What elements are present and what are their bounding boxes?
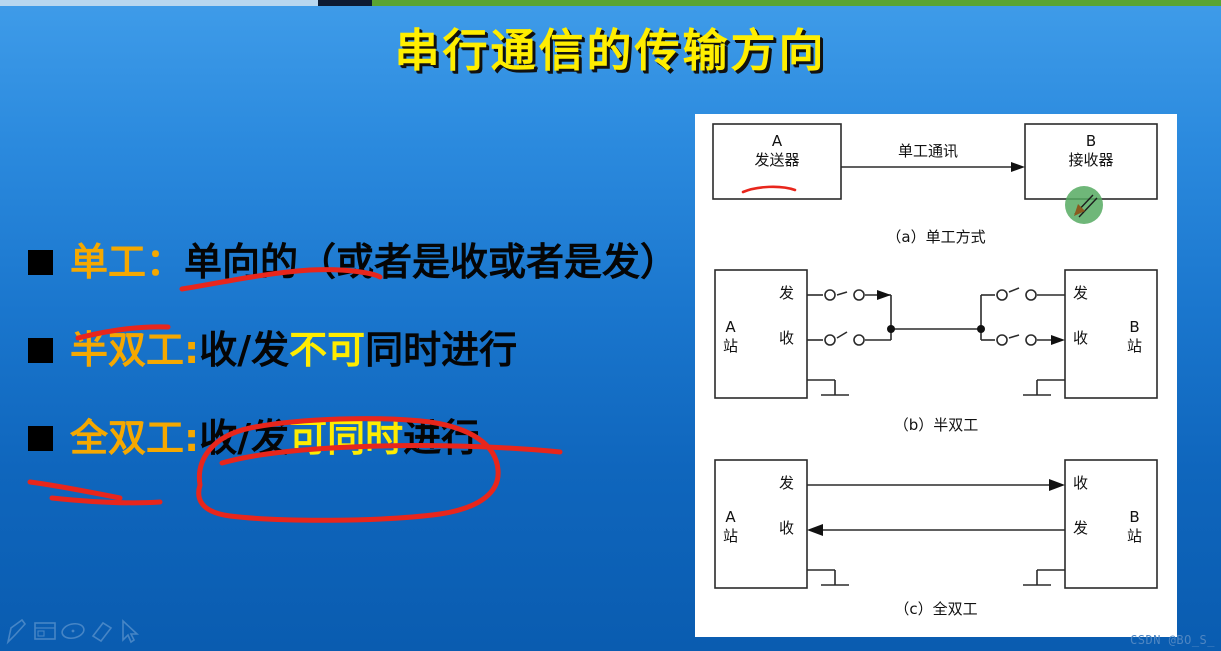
box-subtitle: 接收器 bbox=[1025, 151, 1157, 170]
half-duplex-left-tx-label: 发 bbox=[779, 284, 794, 303]
station-sub: 站 bbox=[723, 337, 738, 356]
simplex-left-box-label: A 发送器 bbox=[713, 132, 841, 170]
half-duplex-left-rx-label: 收 bbox=[779, 329, 794, 348]
full-duplex-right-station: B 站 bbox=[1127, 508, 1142, 546]
bullet-keyword: 全双工: bbox=[70, 416, 199, 460]
square-bullet-icon bbox=[28, 426, 53, 451]
bullet-body: 收/发 bbox=[199, 416, 289, 460]
full-duplex-caption: （c）全双工 bbox=[695, 598, 1177, 619]
eraser-icon[interactable] bbox=[88, 616, 114, 646]
bullet-keyword: 半双工: bbox=[70, 328, 199, 372]
half-duplex-right-station: B 站 bbox=[1127, 318, 1142, 356]
page-title: 串行通信的传输方向 bbox=[0, 14, 1221, 79]
station-name: A bbox=[723, 318, 738, 337]
full-duplex-graphic bbox=[695, 452, 1177, 612]
station-sub: 站 bbox=[1127, 527, 1142, 546]
bullet-text: 单工：单向的（或者是收或者是发） bbox=[70, 236, 678, 288]
list-item: 单工：单向的（或者是收或者是发） bbox=[0, 236, 690, 324]
station-name: B bbox=[1127, 508, 1142, 527]
station-sub: 站 bbox=[723, 527, 738, 546]
diagram-full-duplex: A 站 发 收 B 站 收 发 （c）全双工 bbox=[695, 452, 1177, 632]
full-duplex-left-station: A 站 bbox=[723, 508, 738, 546]
bullet-body: 单向的（或者是收或者是发） bbox=[184, 240, 678, 284]
half-duplex-caption: （b）半双工 bbox=[695, 414, 1177, 435]
box-subtitle: 发送器 bbox=[713, 151, 841, 170]
square-bullet-icon bbox=[28, 338, 53, 363]
full-duplex-left-rx-label: 收 bbox=[779, 519, 794, 538]
simplex-caption: （a）单工方式 bbox=[695, 226, 1177, 247]
list-item: 半双工:收/发不可同时进行 bbox=[0, 324, 690, 412]
half-duplex-left-station: A 站 bbox=[723, 318, 738, 356]
station-sub: 站 bbox=[1127, 337, 1142, 356]
bullet-body-end: 进行 bbox=[403, 416, 479, 460]
full-duplex-left-tx-label: 发 bbox=[779, 474, 794, 493]
list-item: 全双工:收/发可同时进行 bbox=[0, 412, 690, 500]
bullet-body: 收/发 bbox=[199, 328, 289, 372]
bullet-highlight: 不可 bbox=[289, 328, 365, 372]
pen-icon[interactable] bbox=[4, 616, 30, 646]
presentation-slide: 串行通信的传输方向 单工：单向的（或者是收或者是发） 半双工:收/发不可同时进行… bbox=[0, 0, 1221, 651]
bullet-text: 半双工:收/发不可同时进行 bbox=[70, 324, 517, 376]
box-title: B bbox=[1025, 132, 1157, 151]
diagram-simplex: A 发送器 B 接收器 单工通讯 （a）单工方式 bbox=[695, 114, 1177, 262]
bullet-body-end: 同时进行 bbox=[365, 328, 517, 372]
box-title: A bbox=[713, 132, 841, 151]
half-duplex-graphic bbox=[695, 262, 1177, 427]
simplex-right-box-label: B 接收器 bbox=[1025, 132, 1157, 170]
top-strip-left bbox=[0, 0, 318, 6]
slide-menu-icon[interactable] bbox=[32, 616, 58, 646]
pen-cursor-icon bbox=[1065, 186, 1103, 224]
diagram-half-duplex: A 站 发 收 B 站 发 收 （b）半双工 bbox=[695, 262, 1177, 452]
bullet-list: 单工：单向的（或者是收或者是发） 半双工:收/发不可同时进行 全双工:收/发可同… bbox=[0, 236, 690, 500]
half-duplex-right-rx-label: 收 bbox=[1073, 329, 1088, 348]
top-strip-dark bbox=[318, 0, 372, 6]
ellipse-highlighter-icon[interactable] bbox=[60, 616, 86, 646]
half-duplex-right-tx-label: 发 bbox=[1073, 284, 1088, 303]
square-bullet-icon bbox=[28, 250, 53, 275]
bullet-keyword: 单工： bbox=[70, 240, 184, 284]
full-duplex-right-rx-label: 收 bbox=[1073, 474, 1088, 493]
station-name: A bbox=[723, 508, 738, 527]
watermark: CSDN @BO_S_ bbox=[1130, 633, 1215, 647]
full-duplex-right-tx-label: 发 bbox=[1073, 519, 1088, 538]
bullet-text: 全双工:收/发可同时进行 bbox=[70, 412, 479, 464]
pointer-arrow-icon[interactable] bbox=[116, 616, 142, 646]
bullet-highlight: 可同时 bbox=[289, 416, 403, 460]
top-strip-green bbox=[372, 0, 1221, 6]
station-name: B bbox=[1127, 318, 1142, 337]
diagram-panel: A 发送器 B 接收器 单工通讯 （a）单工方式 bbox=[695, 114, 1177, 637]
simplex-link-label: 单工通讯 bbox=[858, 140, 998, 161]
presenter-toolbar[interactable] bbox=[4, 616, 154, 648]
